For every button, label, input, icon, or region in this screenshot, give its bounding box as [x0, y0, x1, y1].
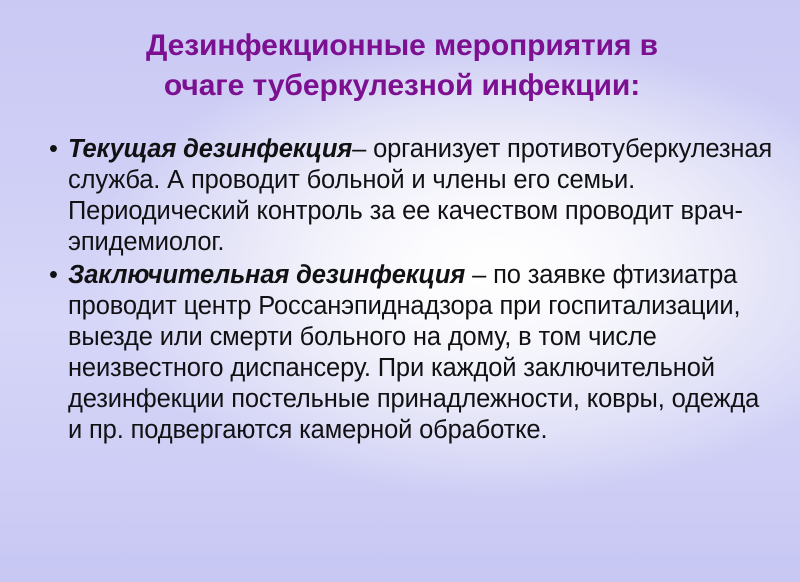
bullet-marker-icon: •	[49, 260, 65, 291]
slide-title: Дезинфекционные мероприятия в очаге тубе…	[52, 26, 752, 106]
slide-canvas: Дезинфекционные мероприятия в очаге тубе…	[0, 0, 800, 582]
slide-title-line-2: очаге туберкулезной инфекции:	[52, 66, 752, 106]
slide-body: • Текущая дезинфекция– организует против…	[36, 134, 778, 448]
slide-title-line-1: Дезинфекционные мероприятия в	[52, 26, 752, 66]
bullet-item-current-disinfection: • Текущая дезинфекция– организует против…	[36, 134, 778, 258]
bullet-marker-icon: •	[49, 134, 65, 165]
bullet-text: Заключительная дезинфекция – по заявке ф…	[68, 260, 778, 446]
bullet-lead-in: Заключительная дезинфекция	[68, 261, 465, 289]
bullet-item-final-disinfection: • Заключительная дезинфекция – по заявке…	[36, 260, 778, 446]
bullet-text: Текущая дезинфекция– организует противот…	[68, 134, 778, 258]
bullet-lead-in: Текущая дезинфекция	[68, 135, 352, 163]
